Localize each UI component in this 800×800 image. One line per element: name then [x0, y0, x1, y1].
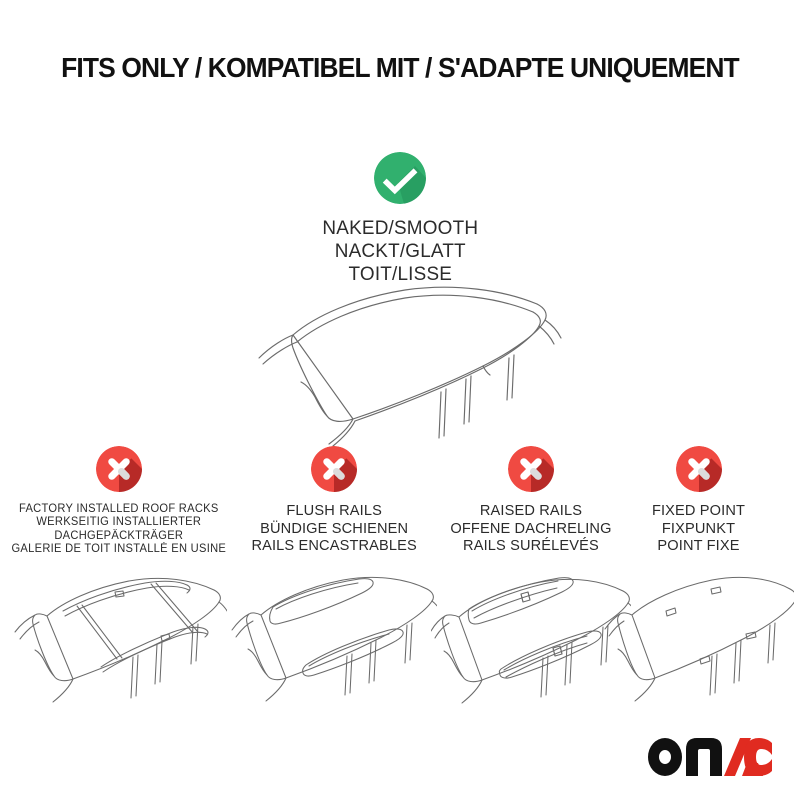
label-fr: RAILS ENCASTRABLES	[251, 537, 416, 555]
incompatible-item-fixed-point: FIXED POINT FIXPUNKT POINT FIXE	[618, 446, 780, 718]
page-title: FITS ONLY / KOMPATIBEL MIT / S'ADAPTE UN…	[16, 52, 784, 84]
label-en: RAISED RAILS	[450, 502, 611, 520]
cross-circle-icon	[96, 446, 142, 492]
smooth-roof-illustration	[245, 272, 575, 447]
flush-rails-illustration	[231, 563, 437, 718]
raised-rails-illustration	[431, 563, 631, 718]
label-fr: RAILS SURÉLEVÉS	[450, 537, 611, 555]
incompatible-labels-fixed-point: FIXED POINT FIXPUNKT POINT FIXE	[650, 502, 747, 555]
incompatible-roof-types: FACTORY INSTALLED ROOF RACKS WERKSEITIG …	[0, 446, 800, 706]
cross-circle-icon	[311, 446, 357, 492]
label-de: OFFENE DACHRELING	[450, 520, 611, 538]
incompatible-labels-flush-rails: FLUSH RAILS BÜNDIGE SCHIENEN RAILS ENCAS…	[248, 502, 420, 555]
label-en: FACTORY INSTALLED ROOF RACKS	[12, 502, 227, 515]
incompatible-item-flush-rails: FLUSH RAILS BÜNDIGE SCHIENEN RAILS ENCAS…	[228, 446, 440, 718]
cross-circle-icon	[508, 446, 554, 492]
fixed-point-illustration	[604, 563, 794, 718]
incompatible-labels-raised-rails: RAISED RAILS OFFENE DACHRELING RAILS SUR…	[447, 502, 615, 555]
label-en: FIXED POINT	[652, 502, 745, 520]
compatible-roof-type-block: NAKED/SMOOTH NACKT/GLATT TOIT/LISSE	[0, 152, 800, 285]
label-fr: GALERIE DE TOIT INSTALLÉ EN USINE	[12, 542, 227, 555]
compatible-label-en: NAKED/SMOOTH	[322, 217, 478, 240]
check-circle-icon	[374, 152, 426, 204]
cross-circle-icon	[676, 446, 722, 492]
incompatible-labels-factory-roof-racks: FACTORY INSTALLED ROOF RACKS WERKSEITIG …	[7, 502, 231, 556]
omac-logo: OMAC	[644, 736, 774, 778]
page-title-bar: FITS ONLY / KOMPATIBEL MIT / S'ADAPTE UN…	[0, 52, 800, 84]
incompatible-item-raised-rails: RAISED RAILS OFFENE DACHRELING RAILS SUR…	[428, 446, 633, 718]
label-de-2: DACHGEPÄCKTRÄGER	[12, 529, 227, 542]
factory-roof-rack-illustration	[11, 564, 227, 719]
label-de-1: WERKSEITIG INSTALLIERTER	[12, 515, 227, 528]
label-fr: POINT FIXE	[652, 537, 745, 555]
fitment-infographic-page: FITS ONLY / KOMPATIBEL MIT / S'ADAPTE UN…	[0, 0, 800, 800]
incompatible-item-factory-roof-racks: FACTORY INSTALLED ROOF RACKS WERKSEITIG …	[8, 446, 230, 719]
label-de: BÜNDIGE SCHIENEN	[251, 520, 416, 538]
compatible-label-de: NACKT/GLATT	[322, 240, 478, 263]
label-de: FIXPUNKT	[652, 520, 745, 538]
label-en: FLUSH RAILS	[251, 502, 416, 520]
